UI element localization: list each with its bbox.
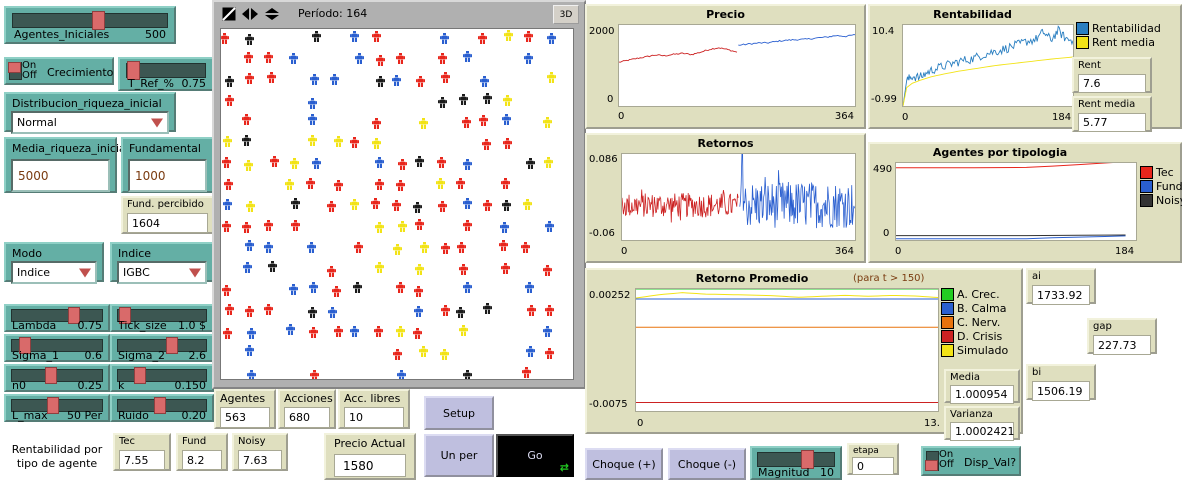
agent[interactable] bbox=[503, 95, 512, 106]
agent[interactable] bbox=[502, 200, 511, 211]
agent[interactable] bbox=[289, 284, 298, 295]
agent[interactable] bbox=[456, 178, 465, 189]
agent[interactable] bbox=[396, 282, 405, 293]
agent-person-icon bbox=[242, 114, 251, 125]
agent[interactable] bbox=[545, 221, 554, 232]
monitor-title: Acciones bbox=[284, 392, 333, 405]
agent[interactable] bbox=[243, 262, 252, 273]
agent[interactable] bbox=[375, 222, 384, 233]
agent[interactable] bbox=[308, 98, 317, 109]
agent[interactable] bbox=[543, 117, 552, 128]
arrows-vertical-icon[interactable] bbox=[263, 7, 281, 21]
slider-sigma-1[interactable]: Sigma_10.6 bbox=[4, 334, 110, 362]
agent[interactable] bbox=[289, 53, 298, 64]
agent[interactable] bbox=[286, 324, 295, 335]
agent[interactable] bbox=[220, 33, 229, 44]
y-axis-min: 0 bbox=[607, 94, 613, 105]
agent-person-icon bbox=[371, 198, 380, 209]
agent-person-icon bbox=[482, 139, 491, 150]
agent[interactable] bbox=[398, 221, 407, 232]
agent[interactable] bbox=[264, 52, 273, 63]
legend-item: A. Crec. bbox=[941, 288, 1008, 301]
monitor-value: 680 bbox=[284, 407, 330, 428]
agent[interactable] bbox=[244, 52, 253, 63]
agent[interactable] bbox=[420, 242, 429, 253]
agent-person-icon bbox=[242, 135, 251, 146]
agent[interactable] bbox=[392, 75, 401, 86]
agent[interactable] bbox=[330, 74, 339, 85]
agent[interactable] bbox=[440, 33, 449, 44]
agent[interactable] bbox=[242, 114, 251, 125]
agent[interactable] bbox=[396, 53, 405, 64]
agent[interactable] bbox=[456, 307, 465, 318]
world-view[interactable]: Período: 164 3D bbox=[212, 0, 586, 389]
agent[interactable] bbox=[545, 305, 554, 316]
chevron-down-icon[interactable] bbox=[189, 268, 201, 277]
plot-precio[interactable]: Precio 2000 0 0 364 bbox=[585, 4, 866, 129]
agent-person-icon bbox=[245, 73, 254, 84]
agent[interactable] bbox=[396, 326, 405, 337]
agent[interactable] bbox=[547, 33, 556, 44]
plot-legend: RentabilidadRent media bbox=[1076, 22, 1161, 50]
agent[interactable] bbox=[414, 286, 423, 297]
agent[interactable] bbox=[501, 178, 510, 189]
agent[interactable] bbox=[310, 74, 319, 85]
agent[interactable] bbox=[397, 370, 406, 380]
agent[interactable] bbox=[242, 135, 251, 146]
agent-person-icon bbox=[224, 179, 233, 190]
agent[interactable] bbox=[457, 242, 466, 253]
choque-minus-button[interactable]: Choque (-) bbox=[668, 448, 746, 480]
monitor-fund: Fund8.2 bbox=[176, 433, 228, 471]
agent[interactable] bbox=[267, 72, 276, 83]
agent[interactable] bbox=[522, 367, 531, 378]
fundamental-field[interactable]: 1000 bbox=[128, 159, 207, 192]
agent[interactable] bbox=[459, 264, 468, 275]
agent[interactable] bbox=[501, 263, 510, 274]
media-riqueza-field[interactable]: 5000 bbox=[11, 159, 110, 192]
agent[interactable] bbox=[393, 349, 402, 360]
agent[interactable] bbox=[438, 97, 447, 108]
chooser-box[interactable]: Normal bbox=[11, 111, 169, 134]
agent-person-icon bbox=[545, 221, 554, 232]
agent[interactable] bbox=[264, 220, 273, 231]
agent[interactable] bbox=[463, 282, 472, 293]
go-button[interactable]: Go ⇄ bbox=[496, 434, 574, 477]
agent[interactable] bbox=[222, 157, 231, 168]
agent-person-icon bbox=[502, 200, 511, 211]
agent[interactable] bbox=[463, 159, 472, 170]
agent[interactable] bbox=[441, 72, 450, 83]
agent-person-icon bbox=[268, 261, 277, 272]
agent[interactable] bbox=[415, 156, 424, 167]
agent[interactable] bbox=[545, 348, 554, 359]
agent[interactable] bbox=[224, 179, 233, 190]
slider-sigma-2[interactable]: Sigma_22.6 bbox=[110, 334, 214, 362]
choque-plus-button[interactable]: Choque (+) bbox=[585, 448, 663, 480]
agent[interactable] bbox=[441, 243, 450, 254]
slider-k[interactable]: k0.150 bbox=[110, 364, 214, 392]
agent-person-icon bbox=[501, 178, 510, 189]
agent[interactable] bbox=[463, 220, 472, 231]
slider-agentes-iniciales[interactable]: Agentes_Iniciales 500 bbox=[4, 6, 176, 44]
plot-agentes-por-tipologia[interactable]: Agentes por tipologia 490 0 0 184 TecFun… bbox=[868, 142, 1182, 263]
agent[interactable] bbox=[526, 158, 535, 169]
agent[interactable] bbox=[354, 242, 363, 253]
agent[interactable] bbox=[312, 158, 321, 169]
agent[interactable] bbox=[436, 178, 445, 189]
agent-person-icon bbox=[526, 346, 535, 357]
slider-value: 0.6 bbox=[85, 349, 103, 362]
view-3d-button[interactable]: 3D bbox=[553, 5, 579, 24]
agent[interactable] bbox=[480, 76, 489, 87]
agent-person-icon bbox=[438, 97, 447, 108]
switch-name: Disp_Val? bbox=[964, 456, 1016, 469]
agent[interactable] bbox=[245, 34, 254, 45]
monitor-acc-libres: Acc. libres10 bbox=[338, 389, 410, 429]
agent[interactable] bbox=[308, 114, 317, 125]
legend-color-swatch bbox=[1140, 194, 1153, 207]
monitor-rent: Rent 7.6 bbox=[1072, 57, 1152, 93]
slider-tick-size[interactable]: Tick_size1.0 $ bbox=[110, 304, 214, 332]
plot-retornos[interactable]: Retornos 0.086 -0.06 0 364 bbox=[585, 133, 866, 263]
agent[interactable] bbox=[332, 286, 341, 297]
agent-person-icon bbox=[463, 220, 472, 231]
slider-value: 2.6 bbox=[189, 349, 207, 362]
plot-series-svg bbox=[896, 163, 1136, 240]
agent-person-icon bbox=[330, 74, 339, 85]
slider-thumb[interactable] bbox=[45, 367, 57, 384]
agent-person-icon bbox=[372, 138, 381, 149]
switch-off-label: Off bbox=[22, 70, 37, 81]
agent[interactable] bbox=[291, 220, 300, 231]
y-axis-max: 10.4 bbox=[872, 26, 894, 37]
slider-magnitud[interactable]: Magnitud 10 bbox=[750, 446, 842, 480]
x-axis-min: 0 bbox=[618, 111, 624, 122]
agent[interactable] bbox=[350, 31, 359, 42]
agent[interactable] bbox=[525, 282, 534, 293]
agent[interactable] bbox=[392, 200, 401, 211]
legend-label: B. Calma bbox=[957, 302, 1006, 315]
agent[interactable] bbox=[310, 370, 319, 380]
agent[interactable] bbox=[419, 346, 428, 357]
agent-person-icon bbox=[264, 242, 273, 253]
agent-person-icon bbox=[291, 198, 300, 209]
agent-person-icon bbox=[523, 199, 532, 210]
y-axis-min: -0.06 bbox=[589, 228, 615, 239]
agent[interactable] bbox=[245, 73, 254, 84]
agent[interactable] bbox=[504, 30, 513, 41]
chevron-down-icon[interactable] bbox=[79, 268, 91, 277]
plot-canvas bbox=[902, 24, 1074, 107]
chevron-down-icon[interactable] bbox=[151, 118, 163, 127]
slider-value: 10 bbox=[820, 466, 834, 479]
agent-person-icon bbox=[223, 328, 232, 339]
agent[interactable] bbox=[483, 303, 492, 314]
agent[interactable] bbox=[413, 328, 422, 339]
agent[interactable] bbox=[309, 327, 318, 338]
agent[interactable] bbox=[222, 285, 231, 296]
agent[interactable] bbox=[414, 306, 423, 317]
agent[interactable] bbox=[291, 198, 300, 209]
slider-ruido[interactable]: Ruido0.20 bbox=[110, 394, 214, 422]
agent[interactable] bbox=[543, 326, 552, 337]
legend-item: B. Calma bbox=[941, 302, 1008, 315]
arrows-horizontal-icon[interactable] bbox=[241, 7, 259, 21]
agent[interactable] bbox=[376, 55, 385, 66]
agent-person-icon bbox=[527, 305, 536, 316]
agent[interactable] bbox=[327, 266, 336, 277]
agent[interactable] bbox=[375, 179, 384, 190]
agent[interactable] bbox=[437, 157, 446, 168]
agent[interactable] bbox=[393, 244, 402, 255]
agent[interactable] bbox=[353, 282, 362, 293]
slider-label: Magnitud bbox=[758, 466, 810, 479]
agent-person-icon bbox=[332, 286, 341, 297]
slider-t-ref[interactable]: T_Ref_% 0.75 bbox=[118, 57, 214, 91]
chooser-indice[interactable]: Indice IGBC bbox=[110, 242, 214, 282]
agent-person-icon bbox=[526, 158, 535, 169]
chooser-box[interactable]: IGBC bbox=[117, 261, 207, 284]
slider-thumb[interactable] bbox=[166, 337, 178, 354]
agent-person-icon bbox=[355, 53, 364, 64]
agent[interactable] bbox=[308, 135, 317, 146]
agent[interactable] bbox=[222, 221, 231, 232]
agent[interactable] bbox=[225, 304, 234, 315]
agent-person-icon bbox=[463, 51, 472, 62]
agent[interactable] bbox=[268, 261, 277, 272]
un-per-button[interactable]: Un per bbox=[424, 434, 494, 477]
edit-icon[interactable] bbox=[222, 7, 236, 21]
agent[interactable] bbox=[245, 345, 254, 356]
agent[interactable] bbox=[524, 53, 533, 64]
agent[interactable] bbox=[372, 138, 381, 149]
agent[interactable] bbox=[416, 76, 425, 87]
chooser-value: IGBC bbox=[123, 266, 150, 279]
agent[interactable] bbox=[372, 31, 381, 42]
agent[interactable] bbox=[438, 53, 447, 64]
y-axis-max: 0.00252 bbox=[589, 290, 630, 301]
slider-thumb[interactable] bbox=[134, 367, 146, 384]
slider-label: L_max bbox=[12, 409, 48, 422]
chooser-distribucion-riqueza[interactable]: Distribucion_riqueza_inicial Normal bbox=[4, 92, 176, 132]
agent[interactable] bbox=[376, 76, 385, 87]
series-line bbox=[896, 163, 1126, 168]
agent[interactable] bbox=[371, 198, 380, 209]
agent-person-icon bbox=[463, 282, 472, 293]
agent-person-icon bbox=[264, 304, 273, 315]
legend-label: D. Crisis bbox=[957, 330, 1002, 343]
agent[interactable] bbox=[375, 262, 384, 273]
slider-thumb[interactable] bbox=[154, 397, 166, 414]
agent[interactable] bbox=[441, 305, 450, 316]
agent-person-icon bbox=[246, 201, 255, 212]
agent[interactable] bbox=[264, 242, 273, 253]
agent[interactable] bbox=[244, 160, 253, 171]
agent[interactable] bbox=[478, 33, 487, 44]
agent[interactable] bbox=[544, 157, 553, 168]
agent[interactable] bbox=[290, 158, 299, 169]
slider-track[interactable] bbox=[12, 13, 168, 28]
agent[interactable] bbox=[355, 53, 364, 64]
legend-color-swatch bbox=[941, 302, 954, 315]
input-media-riqueza-inicial[interactable]: Media_riqueza_inicial 5000 bbox=[4, 137, 117, 193]
agent[interactable] bbox=[247, 370, 256, 380]
agent[interactable] bbox=[312, 31, 321, 42]
agent[interactable] bbox=[459, 325, 468, 336]
chooser-title: Modo bbox=[12, 247, 42, 260]
agent[interactable] bbox=[223, 328, 232, 339]
agent[interactable] bbox=[334, 136, 343, 147]
agent[interactable] bbox=[524, 31, 533, 42]
agent[interactable] bbox=[499, 240, 508, 251]
agent[interactable] bbox=[419, 118, 428, 129]
agent-person-icon bbox=[372, 31, 381, 42]
agent[interactable] bbox=[483, 93, 492, 104]
legend-label: Fund bbox=[1156, 180, 1182, 193]
switch-crecimiento[interactable]: On Off Crecimiento bbox=[4, 57, 114, 85]
agent[interactable] bbox=[526, 346, 535, 357]
agent[interactable] bbox=[308, 307, 317, 318]
agent[interactable] bbox=[479, 115, 488, 126]
agent-person-icon bbox=[547, 33, 556, 44]
plot-canvas bbox=[621, 153, 856, 241]
slider-value: 0.75 bbox=[182, 77, 207, 90]
agent[interactable] bbox=[327, 201, 336, 212]
agent[interactable] bbox=[334, 180, 343, 191]
agent[interactable] bbox=[463, 198, 472, 209]
agent-person-icon bbox=[375, 157, 384, 168]
agent[interactable] bbox=[527, 305, 536, 316]
agent-person-icon bbox=[459, 94, 468, 105]
y-axis-min: 0 bbox=[883, 228, 889, 239]
agent-person-icon bbox=[543, 326, 552, 337]
series-line bbox=[896, 235, 1126, 236]
agent[interactable] bbox=[521, 242, 530, 253]
agent[interactable] bbox=[547, 72, 556, 83]
agent[interactable] bbox=[328, 307, 337, 318]
agent-person-icon bbox=[441, 305, 450, 316]
agent[interactable] bbox=[374, 326, 383, 337]
agent[interactable] bbox=[523, 199, 532, 210]
agent[interactable] bbox=[375, 157, 384, 168]
agent[interactable] bbox=[246, 201, 255, 212]
agent[interactable] bbox=[223, 136, 232, 147]
agent[interactable] bbox=[307, 242, 316, 253]
legend-item: Noisy bbox=[1140, 194, 1182, 207]
agent[interactable] bbox=[306, 178, 315, 189]
agent[interactable] bbox=[483, 200, 492, 211]
forever-loop-icon: ⇄ bbox=[560, 461, 569, 474]
agent[interactable] bbox=[334, 326, 343, 337]
agent-person-icon bbox=[375, 262, 384, 273]
agent[interactable] bbox=[463, 51, 472, 62]
setup-button[interactable]: Setup bbox=[424, 396, 494, 430]
input-title: Media_riqueza_inicial bbox=[12, 142, 129, 155]
series-line bbox=[740, 154, 855, 228]
agent[interactable] bbox=[242, 222, 251, 233]
agent-person-icon bbox=[440, 33, 449, 44]
agent-person-icon bbox=[478, 33, 487, 44]
agent[interactable] bbox=[264, 304, 273, 315]
agent-person-icon bbox=[375, 179, 384, 190]
slider-n0[interactable]: n00.25 bbox=[4, 364, 110, 392]
monitor-title: Varianza bbox=[950, 409, 993, 420]
agent-person-icon bbox=[479, 115, 488, 126]
x-axis-max: 184 bbox=[1052, 112, 1071, 123]
agent[interactable] bbox=[462, 117, 471, 128]
agent[interactable] bbox=[413, 202, 422, 213]
agent[interactable] bbox=[398, 159, 407, 170]
slider-value: 50 Per bbox=[67, 409, 102, 422]
agent[interactable] bbox=[372, 118, 381, 129]
slider-thumb[interactable] bbox=[47, 397, 59, 414]
agent[interactable] bbox=[543, 265, 552, 276]
slider-lambda[interactable]: Lambda0.75 bbox=[4, 304, 110, 332]
agent[interactable] bbox=[309, 282, 318, 293]
chooser-box[interactable]: Indice bbox=[11, 261, 97, 284]
agent-person-icon bbox=[543, 265, 552, 276]
agent-person-icon bbox=[307, 242, 316, 253]
slider-l-max[interactable]: L_max50 Per bbox=[4, 394, 110, 422]
monitor-value: 7.6 bbox=[1078, 74, 1146, 93]
agent-person-icon bbox=[483, 303, 492, 314]
agent[interactable] bbox=[225, 95, 234, 106]
agent[interactable] bbox=[247, 328, 256, 339]
agent[interactable] bbox=[223, 199, 232, 210]
agent[interactable] bbox=[415, 219, 424, 230]
agent[interactable] bbox=[245, 240, 254, 251]
slider-track[interactable] bbox=[757, 452, 835, 467]
agent[interactable] bbox=[350, 326, 359, 337]
legend-item: Fund bbox=[1140, 180, 1182, 193]
agent[interactable] bbox=[500, 222, 509, 233]
agent[interactable] bbox=[225, 76, 234, 87]
agent[interactable] bbox=[396, 180, 405, 191]
chooser-modo[interactable]: Modo Indice bbox=[4, 242, 104, 282]
slider-value: 1.0 $ bbox=[178, 319, 206, 332]
monitor-value: 7.55 bbox=[119, 450, 165, 470]
agent[interactable] bbox=[350, 199, 359, 210]
agent-person-icon bbox=[480, 76, 489, 87]
switch-disp-val[interactable]: On Off Disp_Val? bbox=[921, 446, 1021, 476]
agent[interactable] bbox=[502, 114, 511, 125]
switch-knob[interactable] bbox=[925, 460, 938, 471]
input-fundamental[interactable]: Fundamental 1000 bbox=[121, 137, 214, 193]
agent[interactable] bbox=[440, 349, 449, 360]
tick-counter: Período: 164 bbox=[298, 7, 367, 20]
switch-knob[interactable] bbox=[8, 62, 21, 73]
agent-person-icon bbox=[483, 200, 492, 211]
agent[interactable] bbox=[482, 139, 491, 150]
agent[interactable] bbox=[463, 370, 472, 380]
agent-person-icon bbox=[245, 240, 254, 251]
agent[interactable] bbox=[459, 94, 468, 105]
monitor-title: Acc. libres bbox=[344, 392, 400, 405]
monitor-title: Media bbox=[950, 372, 980, 383]
agent[interactable] bbox=[285, 179, 294, 190]
agent[interactable] bbox=[438, 201, 447, 212]
agent-person-icon bbox=[308, 307, 317, 318]
plot-series-svg bbox=[636, 289, 938, 411]
monitor-value: 1733.92 bbox=[1032, 285, 1090, 305]
world-canvas[interactable] bbox=[220, 28, 574, 380]
agent[interactable] bbox=[270, 156, 279, 167]
agent[interactable] bbox=[245, 306, 254, 317]
agent[interactable] bbox=[503, 138, 512, 149]
agent[interactable] bbox=[415, 264, 424, 275]
agent[interactable] bbox=[350, 137, 359, 148]
